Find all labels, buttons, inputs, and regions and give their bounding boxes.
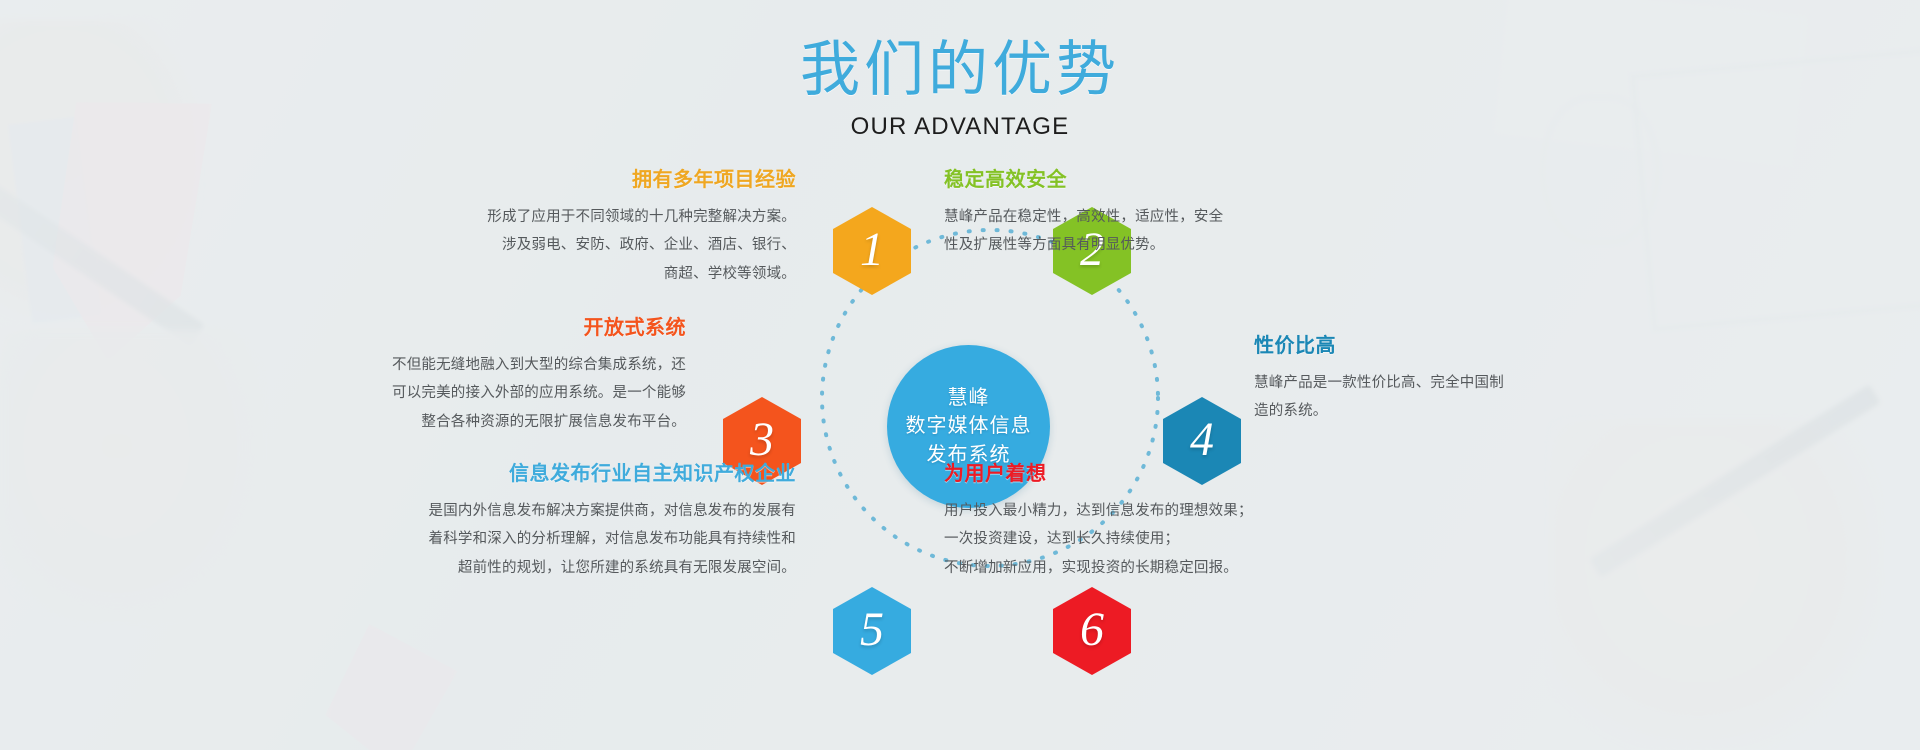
hex-number-3: 3 [750, 416, 774, 464]
advantage-body-line: 是国内外信息发布解决方案提供商，对信息发布的发展有 [429, 497, 797, 525]
advantage-block-1: 拥有多年项目经验 形成了应用于不同领域的十几种完整解决方案。涉及弱电、安防、政府… [487, 168, 796, 288]
advantage-body-line: 可以完美的接入外部的应用系统。是一个能够 [392, 379, 686, 407]
hex-number-6: 6 [1080, 606, 1104, 654]
advantage-block-2: 稳定高效安全 慧峰产品在稳定性，高效性，适应性，安全性及扩展性等方面具有明显优势… [944, 168, 1223, 260]
advantage-diagram: 慧峰 数字媒体信息 发布系统 1 2 3 4 5 6 拥有多年项目经验 形成了应… [0, 0, 1920, 750]
advantage-body-line: 造的系统。 [1254, 397, 1504, 425]
advantage-block-6: 为用户着想 用户投入最小精力，达到信息发布的理想效果；一次投资建设，达到长久持续… [944, 462, 1253, 582]
advantage-body-line: 形成了应用于不同领域的十几种完整解决方案。 [487, 203, 796, 231]
advantage-body-line: 整合各种资源的无限扩展信息发布平台。 [392, 408, 686, 436]
advantage-body-5: 是国内外信息发布解决方案提供商，对信息发布的发展有着科学和深入的分析理解，对信息… [429, 497, 797, 582]
advantage-infographic: 我们的优势 OUR ADVANTAGE 慧峰 数字媒体信息 发布系统 1 2 3… [0, 0, 1920, 750]
advantage-body-line: 不但能无缝地融入到大型的综合集成系统，还 [392, 351, 686, 379]
advantage-body-line: 涉及弱电、安防、政府、企业、酒店、银行、 [487, 231, 796, 259]
advantage-block-3: 开放式系统 不但能无缝地融入到大型的综合集成系统，还可以完美的接入外部的应用系统… [392, 316, 686, 436]
advantage-block-5: 信息发布行业自主知识产权企业 是国内外信息发布解决方案提供商，对信息发布的发展有… [429, 462, 797, 582]
advantage-block-4: 性价比高 慧峰产品是一款性价比高、完全中国制造的系统。 [1254, 334, 1504, 426]
advantage-heading-2: 稳定高效安全 [944, 168, 1223, 193]
advantage-heading-3: 开放式系统 [392, 316, 686, 341]
advantage-body-line: 商超、学校等领域。 [487, 260, 796, 288]
advantage-heading-6: 为用户着想 [944, 462, 1253, 487]
center-line-2: 数字媒体信息 [906, 412, 1032, 440]
advantage-body-line: 一次投资建设，达到长久持续使用； [944, 525, 1253, 553]
advantage-body-4: 慧峰产品是一款性价比高、完全中国制造的系统。 [1254, 369, 1504, 426]
advantage-body-line: 超前性的规划，让您所建的系统具有无限发展空间。 [429, 554, 797, 582]
hex-badge-6[interactable]: 6 [1053, 587, 1131, 675]
advantage-body-1: 形成了应用于不同领域的十几种完整解决方案。涉及弱电、安防、政府、企业、酒店、银行… [487, 203, 796, 288]
advantage-body-2: 慧峰产品在稳定性，高效性，适应性，安全性及扩展性等方面具有明显优势。 [944, 203, 1223, 260]
hex-number-4: 4 [1190, 416, 1214, 464]
advantage-body-line: 用户投入最小精力，达到信息发布的理想效果； [944, 497, 1253, 525]
hex-number-1: 1 [860, 226, 884, 274]
advantage-body-line: 慧峰产品在稳定性，高效性，适应性，安全 [944, 203, 1223, 231]
advantage-body-line: 慧峰产品是一款性价比高、完全中国制 [1254, 369, 1504, 397]
hex-number-5: 5 [860, 606, 884, 654]
hex-badge-5[interactable]: 5 [833, 587, 911, 675]
advantage-heading-5: 信息发布行业自主知识产权企业 [429, 462, 797, 487]
advantage-heading-1: 拥有多年项目经验 [487, 168, 796, 193]
advantage-body-line: 不断增加新应用，实现投资的长期稳定回报。 [944, 554, 1253, 582]
advantage-body-6: 用户投入最小精力，达到信息发布的理想效果；一次投资建设，达到长久持续使用；不断增… [944, 497, 1253, 582]
advantage-body-line: 性及扩展性等方面具有明显优势。 [944, 231, 1223, 259]
advantage-heading-4: 性价比高 [1254, 334, 1504, 359]
advantage-body-3: 不但能无缝地融入到大型的综合集成系统，还可以完美的接入外部的应用系统。是一个能够… [392, 351, 686, 436]
advantage-body-line: 着科学和深入的分析理解，对信息发布功能具有持续性和 [429, 525, 797, 553]
center-line-1: 慧峰 [948, 384, 990, 412]
